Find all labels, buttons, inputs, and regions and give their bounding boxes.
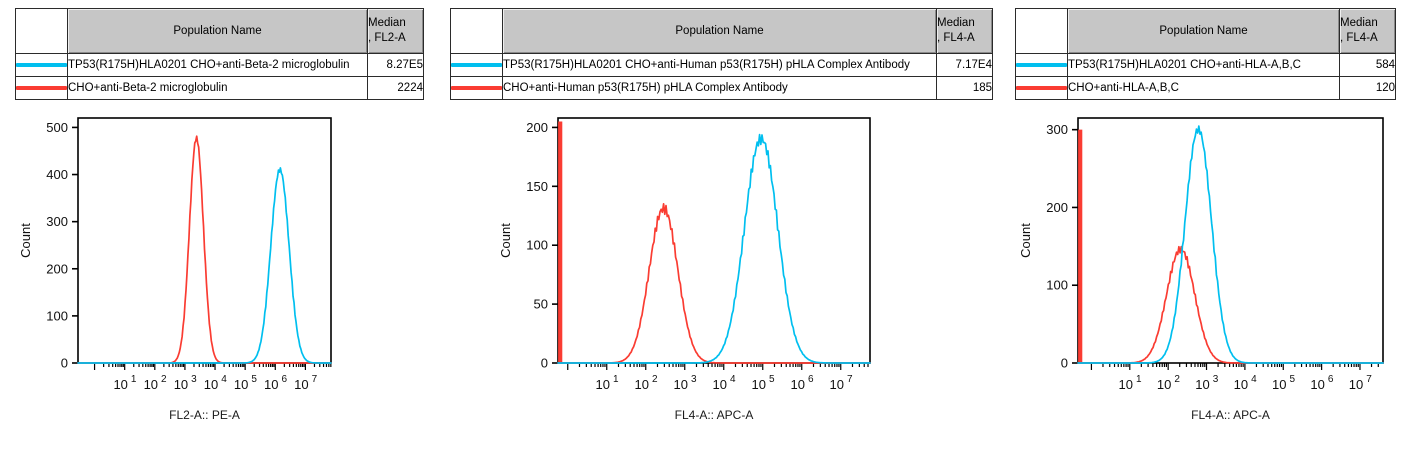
header-median: Median, FL2-A (368, 9, 424, 54)
histogram-curve (78, 136, 331, 363)
series-color-swatch-cell (451, 54, 503, 77)
y-axis-tick-label: 50 (534, 297, 548, 312)
header-median-line1: Median (368, 16, 423, 31)
x-axis-tick-exponent: 7 (1366, 374, 1372, 385)
x-axis-title: FL4-A:: APC-A (1078, 408, 1383, 422)
median-value-cell: 584 (1340, 54, 1396, 77)
y-axis-title: Count (498, 223, 513, 258)
header-median: Median, FL4-A (937, 9, 993, 54)
population-name-cell: TP53(R175H)HLA0201 CHO+anti-Human p53(R1… (503, 54, 937, 77)
x-axis-tick-label: 10 (1272, 377, 1286, 392)
series-color-swatch (451, 86, 502, 90)
histogram-svg: 0100200300400500Count1011021031041051061… (16, 104, 347, 415)
series-color-swatch (1016, 63, 1067, 67)
series-color-swatch-cell (1016, 54, 1068, 77)
median-value-cell: 120 (1340, 77, 1396, 100)
x-axis-tick-exponent: 6 (281, 374, 287, 385)
y-axis-tick-label: 300 (1046, 122, 1068, 137)
plot-frame (1078, 118, 1383, 363)
y-axis-tick-label: 300 (46, 214, 68, 229)
header-swatch-blank (1016, 9, 1068, 54)
x-axis-tick-label: 10 (144, 377, 158, 392)
series-color-swatch (16, 86, 67, 90)
population-name-cell: CHO+anti-Beta-2 microglobulin (68, 77, 368, 100)
x-axis-tick-exponent: 3 (1213, 374, 1219, 385)
x-axis-tick-label: 10 (264, 377, 278, 392)
x-axis-tick-exponent: 5 (251, 374, 257, 385)
population-name-cell: TP53(R175H)HLA0201 CHO+anti-HLA-A,B,C (1068, 54, 1340, 77)
x-axis-tick-exponent: 1 (131, 374, 137, 385)
y-axis-title: Count (18, 223, 33, 258)
x-axis-tick-exponent: 3 (691, 374, 697, 385)
x-axis-tick-exponent: 4 (221, 374, 227, 385)
header-median: Median, FL4-A (1340, 9, 1396, 54)
x-axis-tick-label: 10 (113, 377, 127, 392)
x-axis-tick-exponent: 5 (1289, 374, 1295, 385)
population-name-cell: CHO+anti-Human p53(R175H) pHLA Complex A… (503, 77, 937, 100)
series-color-swatch (16, 63, 67, 67)
table-header-row: Population NameMedian, FL2-A (16, 9, 424, 54)
x-axis-tick-exponent: 6 (1328, 374, 1334, 385)
x-axis-tick-label: 10 (1195, 377, 1209, 392)
x-axis-title: FL2-A:: PE-A (78, 408, 331, 422)
x-axis-tick-label: 10 (713, 377, 727, 392)
histogram-curve (78, 168, 331, 363)
header-population-name: Population Name (503, 9, 937, 54)
population-legend-table: Population NameMedian, FL4-ATP53(R175H)H… (450, 8, 993, 100)
population-name-cell: TP53(R175H)HLA0201 CHO+anti-Beta-2 micro… (68, 54, 368, 77)
table-row[interactable]: CHO+anti-Human p53(R175H) pHLA Complex A… (451, 77, 993, 100)
histogram-curve (558, 135, 870, 363)
histogram-curve (558, 204, 870, 363)
x-axis-tick-exponent: 1 (1136, 374, 1142, 385)
median-value-cell: 2224 (368, 77, 424, 100)
x-axis-tick-label: 10 (674, 377, 688, 392)
x-axis-tick-label: 10 (204, 377, 218, 392)
median-value-cell: 7.17E4 (937, 54, 993, 77)
x-axis-tick-exponent: 2 (161, 374, 167, 385)
x-axis-tick-label: 10 (1349, 377, 1363, 392)
y-axis-tick-label: 200 (46, 261, 68, 276)
y-axis-tick-label: 200 (1046, 200, 1068, 215)
header-population-name: Population Name (68, 9, 368, 54)
x-axis-tick-label: 10 (791, 377, 805, 392)
x-axis-tick-exponent: 3 (191, 374, 197, 385)
series-color-swatch (1016, 86, 1067, 90)
y-axis-title: Count (1018, 223, 1033, 258)
y-axis-tick-label: 400 (46, 167, 68, 182)
x-axis-tick-exponent: 7 (312, 374, 318, 385)
x-axis-tick-label: 10 (752, 377, 766, 392)
y-axis-tick-label: 150 (526, 179, 548, 194)
header-median-line1: Median (937, 16, 992, 31)
table-row[interactable]: TP53(R175H)HLA0201 CHO+anti-Beta-2 micro… (16, 54, 424, 77)
population-legend-table: Population NameMedian, FL4-ATP53(R175H)H… (1015, 8, 1396, 100)
series-color-swatch-cell (16, 54, 68, 77)
y-axis-tick-label: 0 (1061, 356, 1068, 371)
x-axis-tick-exponent: 4 (1251, 374, 1257, 385)
y-axis-tick-label: 0 (541, 356, 548, 371)
y-axis-tick-label: 100 (46, 308, 68, 323)
header-median-line2: , FL4-A (937, 31, 992, 46)
y-axis-tick-label: 100 (526, 238, 548, 253)
x-axis-tick-exponent: 7 (847, 374, 853, 385)
x-axis-tick-exponent: 1 (613, 374, 619, 385)
histogram-curve (1078, 126, 1383, 363)
histogram-curve (1078, 247, 1383, 363)
table-header-row: Population NameMedian, FL4-A (1016, 9, 1396, 54)
x-axis-tick-exponent: 2 (652, 374, 658, 385)
table-header-row: Population NameMedian, FL4-A (451, 9, 993, 54)
header-median-line2: , FL4-A (1340, 31, 1395, 46)
series-color-swatch (451, 63, 502, 67)
header-median-line1: Median (1340, 16, 1395, 31)
table-row[interactable]: TP53(R175H)HLA0201 CHO+anti-HLA-A,B,C584 (1016, 54, 1396, 77)
header-swatch-blank (451, 9, 503, 54)
x-axis-tick-label: 10 (635, 377, 649, 392)
histogram-svg: 050100150200Count101102103104105106107 (496, 104, 886, 415)
x-axis-tick-exponent: 5 (769, 374, 775, 385)
header-median-line2: , FL2-A (368, 31, 423, 46)
x-axis-tick-label: 10 (234, 377, 248, 392)
flow-cytometry-figure: Population NameMedian, FL2-ATP53(R175H)H… (0, 0, 1410, 449)
header-population-name: Population Name (1068, 9, 1340, 54)
table-row[interactable]: CHO+anti-HLA-A,B,C120 (1016, 77, 1396, 100)
x-axis-tick-label: 10 (174, 377, 188, 392)
x-axis-tick-label: 10 (830, 377, 844, 392)
x-axis-tick-label: 10 (1157, 377, 1171, 392)
y-axis-tick-label: 0 (61, 356, 68, 371)
series-color-swatch-cell (16, 77, 68, 100)
median-value-cell: 8.27E5 (368, 54, 424, 77)
x-axis-tick-label: 10 (596, 377, 610, 392)
histogram-plot: 0100200300Count101102103104105106107 (1016, 104, 1399, 415)
population-legend-table: Population NameMedian, FL2-ATP53(R175H)H… (15, 8, 424, 100)
y-axis-tick-label: 200 (526, 120, 548, 135)
x-axis-tick-exponent: 6 (808, 374, 814, 385)
x-axis-title: FL4-A:: APC-A (558, 408, 870, 422)
table-row[interactable]: TP53(R175H)HLA0201 CHO+anti-Human p53(R1… (451, 54, 993, 77)
series-color-swatch-cell (1016, 77, 1068, 100)
x-axis-tick-exponent: 2 (1174, 374, 1180, 385)
header-swatch-blank (16, 9, 68, 54)
x-axis-tick-label: 10 (1119, 377, 1133, 392)
histogram-plot: 050100150200Count101102103104105106107 (496, 104, 886, 415)
series-color-swatch-cell (451, 77, 503, 100)
y-axis-tick-label: 500 (46, 120, 68, 135)
x-axis-tick-label: 10 (294, 377, 308, 392)
y-axis-tick-label: 100 (1046, 278, 1068, 293)
x-axis-tick-label: 10 (1234, 377, 1248, 392)
median-value-cell: 185 (937, 77, 993, 100)
x-axis-tick-label: 10 (1310, 377, 1324, 392)
population-name-cell: CHO+anti-HLA-A,B,C (1068, 77, 1340, 100)
histogram-svg: 0100200300Count101102103104105106107 (1016, 104, 1399, 415)
plot-frame (558, 118, 870, 363)
x-axis-tick-exponent: 4 (730, 374, 736, 385)
histogram-plot: 0100200300400500Count1011021031041051061… (16, 104, 347, 415)
table-row[interactable]: CHO+anti-Beta-2 microglobulin2224 (16, 77, 424, 100)
